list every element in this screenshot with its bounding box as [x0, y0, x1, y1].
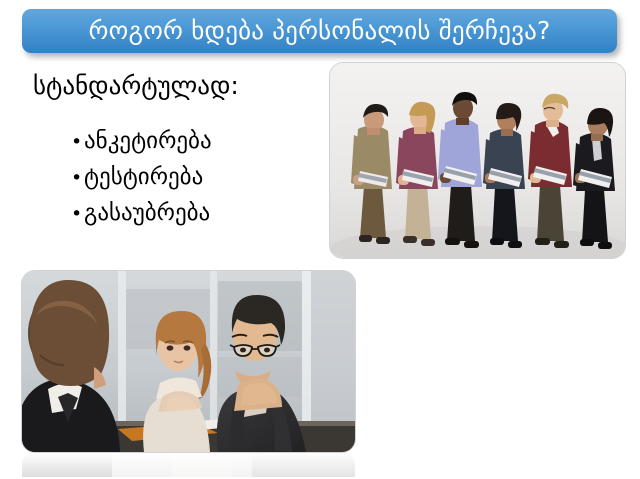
lead-line-text: სტანდარტულად:	[33, 72, 323, 100]
job-interview-photo	[22, 271, 355, 452]
interview-photo-reflection	[22, 452, 355, 477]
queue-of-job-applicants-photo	[330, 63, 625, 258]
bullet-list: • ანკეტირება • ტესტირება • გასაუბრება	[33, 130, 323, 225]
slide-canvas: როგორ ხდება პერსონალის შერჩევა? სტანდარტ…	[0, 0, 640, 479]
queue-photo-artwork	[330, 63, 625, 258]
interview-photo-artwork	[22, 271, 355, 452]
bullet-dot-icon: •	[71, 169, 84, 188]
bullet-dot-icon: •	[71, 205, 84, 224]
slide-body-text: სტანდარტულად: • ანკეტირება • ტესტირება •…	[33, 72, 323, 238]
reflection-artwork	[22, 452, 355, 477]
list-item: • გასაუბრება	[33, 202, 323, 225]
list-item: • ტესტირება	[33, 166, 323, 189]
bullet-label: გასაუბრება	[84, 202, 210, 225]
slide-title-banner: როგორ ხდება პერსონალის შერჩევა?	[22, 9, 617, 53]
bullet-label: ანკეტირება	[84, 130, 212, 153]
bullet-label: ტესტირება	[84, 166, 203, 189]
list-item: • ანკეტირება	[33, 130, 323, 153]
slide-title-text: როგორ ხდება პერსონალის შერჩევა?	[89, 18, 551, 45]
bullet-dot-icon: •	[71, 133, 84, 152]
